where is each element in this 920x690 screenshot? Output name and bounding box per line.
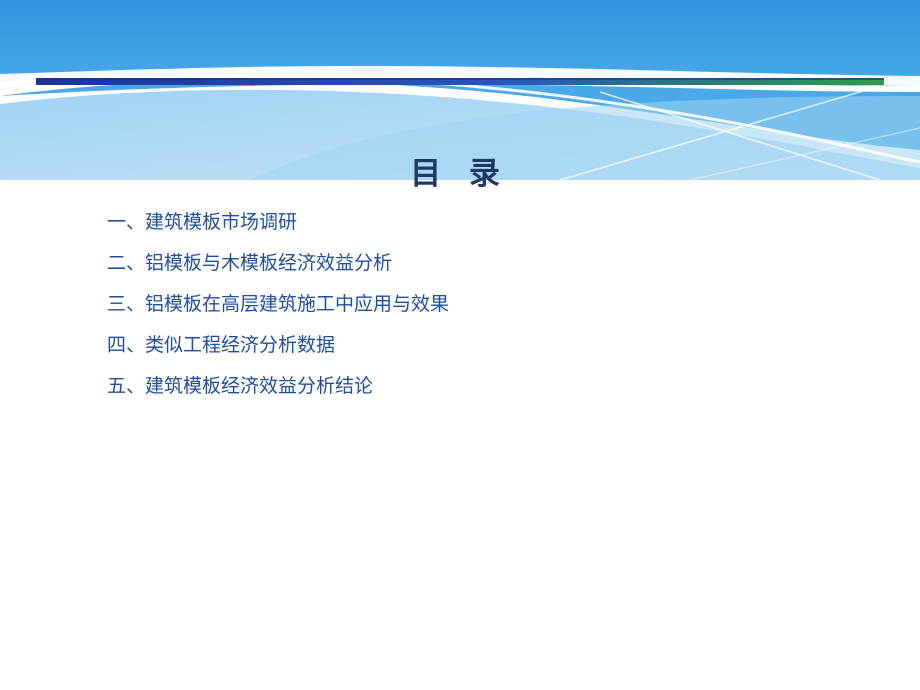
toc-item-number: 五、 [107, 376, 145, 397]
page-title: 目 录 [0, 148, 920, 193]
list-item[interactable]: 四、类似工程经济分析数据 [107, 325, 807, 366]
toc-item-number: 四、 [107, 335, 145, 356]
toc-item-label: 类似工程经济分析数据 [145, 335, 335, 356]
list-item[interactable]: 二、铝模板与木模板经济效益分析 [107, 243, 807, 284]
toc-item-number: 二、 [107, 253, 145, 274]
toc-item-number: 三、 [107, 294, 145, 315]
toc-item-label: 铝模板与木模板经济效益分析 [145, 253, 392, 274]
table-of-contents: 一、建筑模板市场调研 二、铝模板与木模板经济效益分析 三、铝模板在高层建筑施工中… [107, 202, 807, 407]
toc-item-label: 建筑模板市场调研 [145, 212, 297, 233]
list-item[interactable]: 三、铝模板在高层建筑施工中应用与效果 [107, 284, 807, 325]
toc-item-number: 一、 [107, 212, 145, 233]
list-item[interactable]: 五、建筑模板经济效益分析结论 [107, 366, 807, 407]
toc-item-label: 建筑模板经济效益分析结论 [145, 376, 373, 397]
list-item[interactable]: 一、建筑模板市场调研 [107, 202, 807, 243]
toc-item-label: 铝模板在高层建筑施工中应用与效果 [145, 294, 449, 315]
slide: 目 录 一、建筑模板市场调研 二、铝模板与木模板经济效益分析 三、铝模板在高层建… [0, 0, 920, 690]
